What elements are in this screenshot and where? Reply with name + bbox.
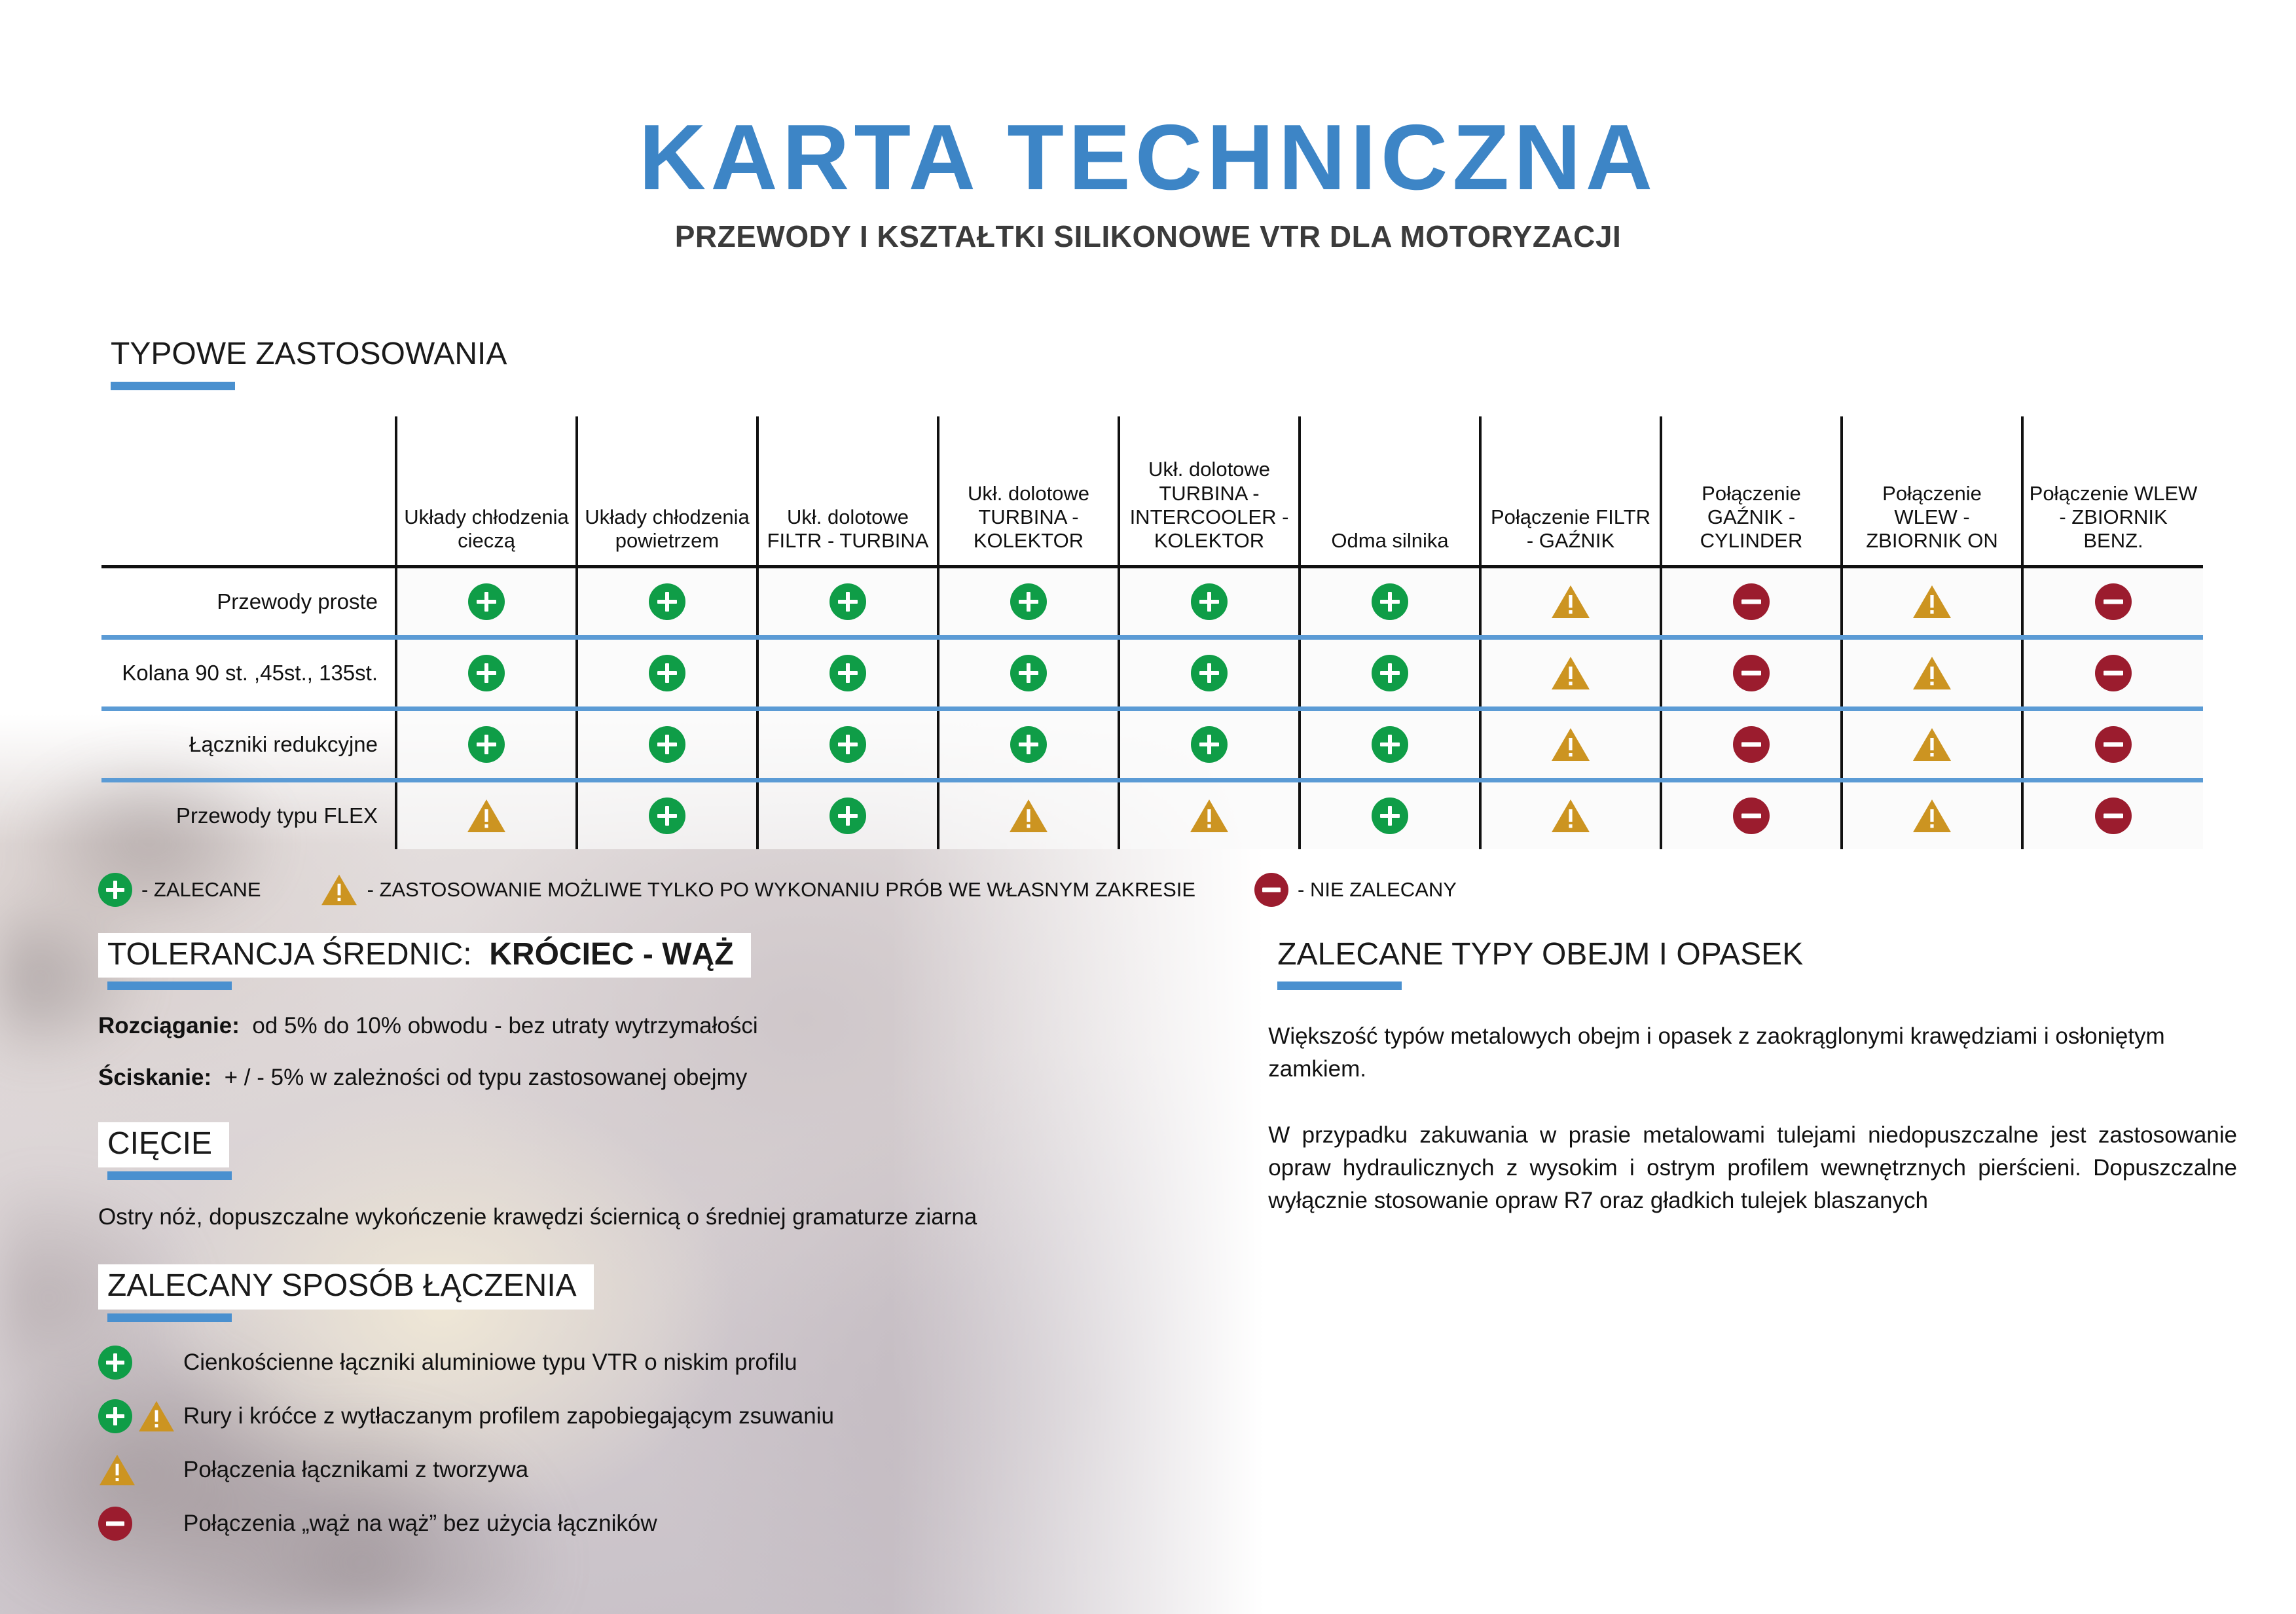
list-item-label: Cienkościenne łączniki aluminiowe typu V… bbox=[183, 1349, 797, 1376]
status-cell bbox=[1842, 566, 2022, 637]
plus-icon bbox=[98, 1399, 132, 1433]
clamps-paragraph-1: Większość typów metalowych obejm i opase… bbox=[1268, 1020, 2237, 1085]
legend: - ZALECANE- ZASTOSOWANIE MOŻLIWE TYLKO P… bbox=[0, 873, 2296, 907]
plus-icon bbox=[649, 726, 685, 763]
plus-icon bbox=[1191, 655, 1228, 691]
warning-icon bbox=[1550, 726, 1591, 763]
column-header: Ukł. dolotowe FILTR - TURBINA bbox=[757, 416, 938, 567]
status-cell bbox=[1300, 708, 1480, 780]
column-header: Połączenie WLEW - ZBIORNIK ON bbox=[1842, 416, 2022, 567]
warning-icon bbox=[1550, 798, 1591, 834]
status-cell bbox=[2022, 780, 2203, 849]
row-label-header bbox=[101, 416, 396, 567]
minus-icon bbox=[2095, 726, 2132, 763]
heading-accent-rule bbox=[1277, 981, 1402, 990]
list-item-icons bbox=[98, 1507, 183, 1541]
list-item: Połączenia „wąż na wąż” bez użycia łączn… bbox=[98, 1507, 1186, 1541]
plus-icon bbox=[1010, 655, 1047, 691]
status-cell bbox=[1119, 566, 1300, 637]
column-header: Połączenie GAŹNIK - CYLINDER bbox=[1661, 416, 1842, 567]
row-label: Przewody proste bbox=[101, 566, 396, 637]
heading-accent-rule bbox=[111, 382, 235, 390]
page-title: KARTA TECHNICZNA bbox=[0, 111, 2296, 204]
table-header-row: Układy chłodzenia ciecząUkłady chłodzeni… bbox=[101, 416, 2203, 567]
column-header: Układy chłodzenia powietrzem bbox=[577, 416, 757, 567]
legend-label: - ZALECANE bbox=[141, 878, 261, 902]
applications-heading-text: TYPOWE ZASTOSOWANIA bbox=[101, 333, 524, 378]
table-body: Przewody prosteKolana 90 st. ,45st., 135… bbox=[101, 566, 2203, 849]
list-item-label: Rury i króćce z wytłaczanym profilem zap… bbox=[183, 1403, 834, 1429]
warning-icon bbox=[1912, 655, 1952, 691]
warning-icon bbox=[1550, 655, 1591, 691]
joining-heading: ZALECANY SPOSÓB ŁĄCZENIA bbox=[98, 1264, 594, 1322]
warning-icon bbox=[1912, 583, 1952, 620]
status-cell bbox=[1842, 637, 2022, 708]
tolerance-stretch-row: Rozciąganie: od 5% do 10% obwodu - bez u… bbox=[98, 1010, 1186, 1042]
column-header: Ukł. dolotowe TURBINA - KOLEKTOR bbox=[938, 416, 1119, 567]
column-header: Układy chłodzenia cieczą bbox=[396, 416, 577, 567]
status-cell bbox=[1480, 708, 1661, 780]
table-row: Kolana 90 st. ,45st., 135st. bbox=[101, 637, 2203, 708]
status-cell bbox=[396, 708, 577, 780]
warning-icon bbox=[466, 798, 507, 834]
status-cell bbox=[1661, 780, 1842, 849]
status-cell bbox=[938, 637, 1119, 708]
row-label: Kolana 90 st. ,45st., 135st. bbox=[101, 637, 396, 708]
warning-icon bbox=[1189, 798, 1230, 834]
heading-accent-rule bbox=[107, 1171, 232, 1180]
status-cell bbox=[396, 637, 577, 708]
minus-icon bbox=[1733, 798, 1770, 834]
status-cell bbox=[577, 780, 757, 849]
status-cell bbox=[938, 566, 1119, 637]
joining-heading-text: ZALECANY SPOSÓB ŁĄCZENIA bbox=[98, 1264, 594, 1310]
clamps-paragraph-2: W przypadku zakuwania w prasie metalowam… bbox=[1268, 1119, 2237, 1217]
tolerance-heading-bold: KRÓCIEC - WĄŻ bbox=[489, 937, 733, 972]
warning-icon bbox=[1008, 798, 1049, 834]
legend-item: - ZASTOSOWANIE MOŻLIWE TYLKO PO WYKONANI… bbox=[320, 873, 1195, 907]
tolerance-stretch-key: Rozciąganie: bbox=[98, 1013, 240, 1038]
plus-icon bbox=[98, 873, 132, 907]
joining-list: Cienkościenne łączniki aluminiowe typu V… bbox=[98, 1346, 1186, 1541]
warning-icon bbox=[1912, 798, 1952, 834]
warning-icon bbox=[320, 873, 358, 907]
plus-icon bbox=[1372, 655, 1408, 691]
plus-icon bbox=[1372, 798, 1408, 834]
body-columns: TOLERANCJA ŚREDNIC: KRÓCIEC - WĄŻ Rozcią… bbox=[0, 933, 2296, 1560]
plus-icon bbox=[1372, 583, 1408, 620]
minus-icon bbox=[1733, 583, 1770, 620]
list-item: Cienkościenne łączniki aluminiowe typu V… bbox=[98, 1346, 1186, 1380]
plus-icon bbox=[1191, 583, 1228, 620]
status-cell bbox=[938, 708, 1119, 780]
applications-table: Układy chłodzenia ciecząUkłady chłodzeni… bbox=[101, 416, 2203, 849]
status-cell bbox=[1480, 780, 1661, 849]
plus-icon bbox=[468, 583, 505, 620]
applications-section: TYPOWE ZASTOSOWANIA Układy chłodzenia ci… bbox=[0, 333, 2296, 849]
status-cell bbox=[396, 566, 577, 637]
plus-icon bbox=[468, 726, 505, 763]
plus-icon bbox=[829, 798, 866, 834]
minus-icon bbox=[2095, 798, 2132, 834]
cutting-text: Ostry nóż, dopuszczalne wykończenie kraw… bbox=[98, 1201, 1159, 1234]
status-cell bbox=[1119, 637, 1300, 708]
column-header: Odma silnika bbox=[1300, 416, 1480, 567]
right-column: ZALECANE TYPY OBEJM I OPASEK Większość t… bbox=[1268, 933, 2237, 1560]
status-cell bbox=[757, 637, 938, 708]
plus-icon bbox=[829, 726, 866, 763]
clamps-heading-text: ZALECANE TYPY OBEJM I OPASEK bbox=[1268, 933, 1820, 978]
tolerance-compress-row: Ściskanie: + / - 5% w zależności od typu… bbox=[98, 1061, 1186, 1093]
document-header: KARTA TECHNICZNA PRZEWODY I KSZTAŁTKI SI… bbox=[0, 0, 2296, 254]
status-cell bbox=[757, 780, 938, 849]
warning-icon bbox=[137, 1399, 175, 1433]
legend-item: - ZALECANE bbox=[98, 873, 261, 907]
status-cell bbox=[1119, 780, 1300, 849]
plus-icon bbox=[1191, 726, 1228, 763]
tolerance-stretch-value: od 5% do 10% obwodu - bez utraty wytrzym… bbox=[252, 1013, 757, 1038]
list-item-icons bbox=[98, 1399, 183, 1433]
plus-icon bbox=[468, 655, 505, 691]
warning-icon bbox=[98, 1453, 136, 1487]
plus-icon bbox=[98, 1346, 132, 1380]
status-cell bbox=[1661, 566, 1842, 637]
page-subtitle: PRZEWODY I KSZTAŁTKI SILIKONOWE VTR DLA … bbox=[0, 219, 2296, 254]
list-item-icons bbox=[98, 1346, 183, 1380]
minus-icon bbox=[2095, 655, 2132, 691]
table-row: Przewody proste bbox=[101, 566, 2203, 637]
list-item: Połączenia łącznikami z tworzywa bbox=[98, 1453, 1186, 1487]
tolerance-heading-text: TOLERANCJA ŚREDNIC: KRÓCIEC - WĄŻ bbox=[98, 933, 751, 978]
list-item-label: Połączenia „wąż na wąż” bez użycia łączn… bbox=[183, 1511, 657, 1537]
status-cell bbox=[2022, 708, 2203, 780]
status-cell bbox=[938, 780, 1119, 849]
applications-heading: TYPOWE ZASTOSOWANIA bbox=[101, 333, 524, 390]
plus-icon bbox=[1010, 726, 1047, 763]
minus-icon bbox=[1254, 873, 1288, 907]
minus-icon bbox=[98, 1507, 132, 1541]
cutting-heading-text: CIĘCIE bbox=[98, 1122, 229, 1167]
row-label: Przewody typu FLEX bbox=[101, 780, 396, 849]
status-cell bbox=[1300, 637, 1480, 708]
status-cell bbox=[1661, 637, 1842, 708]
table-row: Łączniki redukcyjne bbox=[101, 708, 2203, 780]
minus-icon bbox=[2095, 583, 2132, 620]
list-item-icons bbox=[98, 1453, 183, 1487]
plus-icon bbox=[649, 798, 685, 834]
tolerance-compress-value: + / - 5% w zależności od typu zastosowan… bbox=[225, 1065, 748, 1090]
clamps-heading: ZALECANE TYPY OBEJM I OPASEK bbox=[1268, 933, 1820, 991]
column-header: Połączenie FILTR - GAŹNIK bbox=[1480, 416, 1661, 567]
legend-label: - ZASTOSOWANIE MOŻLIWE TYLKO PO WYKONANI… bbox=[367, 878, 1195, 902]
warning-icon bbox=[1550, 583, 1591, 620]
status-cell bbox=[757, 708, 938, 780]
status-cell bbox=[1300, 566, 1480, 637]
table-row: Przewody typu FLEX bbox=[101, 780, 2203, 849]
column-header: Połączenie WLEW - ZBIORNIK BENZ. bbox=[2022, 416, 2203, 567]
heading-accent-rule bbox=[107, 981, 232, 990]
status-cell bbox=[1480, 637, 1661, 708]
plus-icon bbox=[649, 655, 685, 691]
warning-icon bbox=[1912, 726, 1952, 763]
status-cell bbox=[396, 780, 577, 849]
status-cell bbox=[2022, 566, 2203, 637]
plus-icon bbox=[1010, 583, 1047, 620]
row-label: Łączniki redukcyjne bbox=[101, 708, 396, 780]
plus-icon bbox=[829, 655, 866, 691]
minus-icon bbox=[1733, 655, 1770, 691]
tolerance-compress-key: Ściskanie: bbox=[98, 1065, 211, 1090]
legend-item: - NIE ZALECANY bbox=[1254, 873, 1457, 907]
plus-icon bbox=[1372, 726, 1408, 763]
status-cell bbox=[1842, 708, 2022, 780]
tolerance-heading-prefix: TOLERANCJA ŚREDNIC: bbox=[107, 937, 472, 972]
status-cell bbox=[1661, 708, 1842, 780]
left-column: TOLERANCJA ŚREDNIC: KRÓCIEC - WĄŻ Rozcią… bbox=[98, 933, 1186, 1560]
status-cell bbox=[2022, 637, 2203, 708]
plus-icon bbox=[829, 583, 866, 620]
status-cell bbox=[577, 708, 757, 780]
list-item: Rury i króćce z wytłaczanym profilem zap… bbox=[98, 1399, 1186, 1433]
status-cell bbox=[1842, 780, 2022, 849]
minus-icon bbox=[1733, 726, 1770, 763]
legend-label: - NIE ZALECANY bbox=[1298, 878, 1457, 902]
heading-accent-rule bbox=[107, 1313, 232, 1322]
status-cell bbox=[577, 637, 757, 708]
status-cell bbox=[757, 566, 938, 637]
plus-icon bbox=[649, 583, 685, 620]
list-item-label: Połączenia łącznikami z tworzywa bbox=[183, 1457, 528, 1483]
status-cell bbox=[1300, 780, 1480, 849]
column-header: Ukł. dolotowe TURBINA - INTERCOOLER - KO… bbox=[1119, 416, 1300, 567]
status-cell bbox=[1119, 708, 1300, 780]
status-cell bbox=[1480, 566, 1661, 637]
tolerance-heading: TOLERANCJA ŚREDNIC: KRÓCIEC - WĄŻ bbox=[98, 933, 751, 991]
cutting-heading: CIĘCIE bbox=[98, 1122, 232, 1180]
status-cell bbox=[577, 566, 757, 637]
